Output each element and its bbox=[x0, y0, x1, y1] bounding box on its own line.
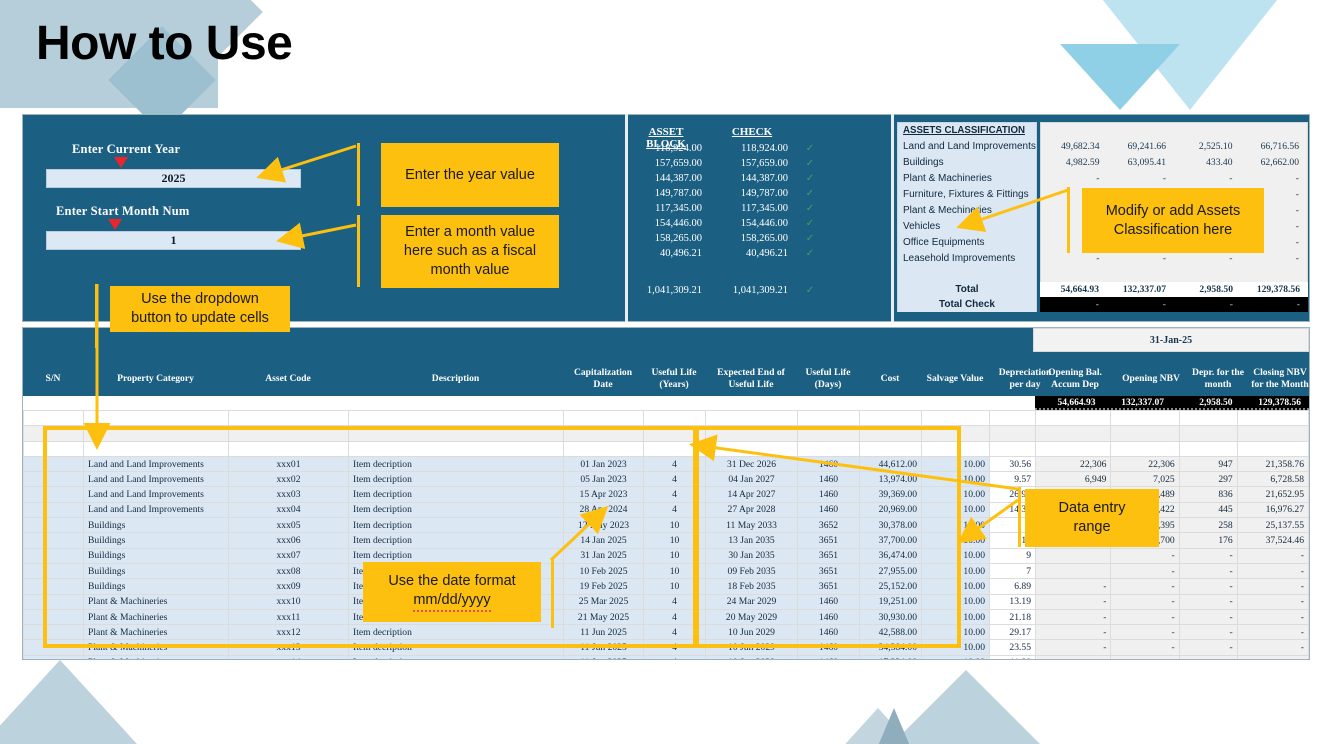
cell-depr-per-day[interactable]: 9.57 bbox=[990, 472, 1036, 487]
cell-description[interactable]: Item decription bbox=[349, 502, 564, 517]
table-row[interactable]: - - - - bbox=[1036, 655, 1309, 660]
cell-asset-code[interactable]: xxx10 bbox=[229, 594, 349, 609]
cell-salvage[interactable]: 10.00 bbox=[922, 518, 990, 533]
cell-cap-date[interactable]: 15 Apr 2023 bbox=[564, 487, 644, 502]
cell-salvage[interactable]: 10.00 bbox=[922, 640, 990, 655]
table-row[interactable] bbox=[1036, 411, 1309, 426]
cell-depr-per-day[interactable]: 21.18 bbox=[990, 609, 1036, 624]
current-year-input[interactable]: 2025 bbox=[46, 169, 301, 188]
cell-sn[interactable] bbox=[24, 625, 84, 640]
col-cost: Cost bbox=[859, 361, 921, 396]
cell-cost[interactable]: 39,369.00 bbox=[860, 487, 922, 502]
table-row[interactable]: Buildings xxx05 Item decription 12 May 2… bbox=[24, 518, 1036, 533]
cell-description[interactable]: Item decription bbox=[349, 487, 564, 502]
cell-description[interactable]: Item decription bbox=[349, 533, 564, 548]
callout-data-entry-range: Data entry range bbox=[1025, 489, 1159, 547]
cell-cap-date[interactable]: 19 Feb 2025 bbox=[564, 579, 644, 594]
cell-salvage[interactable]: 10.00 bbox=[922, 472, 990, 487]
table-row[interactable] bbox=[1036, 426, 1309, 441]
table-row[interactable]: - - - bbox=[1036, 563, 1309, 578]
cell-asset-code[interactable]: xxx06 bbox=[229, 533, 349, 548]
cell-opening-accum-dep[interactable]: - bbox=[1036, 655, 1111, 660]
cell-cap-date[interactable]: 21 May 2025 bbox=[564, 609, 644, 624]
cell-depr-for-month[interactable]: - bbox=[1179, 594, 1237, 609]
cell-opening-accum-dep[interactable]: - bbox=[1036, 625, 1111, 640]
cell-useful-days[interactable]: 3651 bbox=[798, 533, 860, 548]
cell-useful-years[interactable]: 4 bbox=[644, 456, 706, 471]
cell-asset-code[interactable]: xxx07 bbox=[229, 548, 349, 563]
cell-depr-for-month[interactable]: - bbox=[1179, 548, 1237, 563]
cell-cost[interactable]: 30,378.00 bbox=[860, 518, 922, 533]
cell-depr-for-month[interactable]: - bbox=[1179, 579, 1237, 594]
cell-depr-per-day[interactable]: 29.17 bbox=[990, 625, 1036, 640]
cell-category[interactable]: Plant & Machineries bbox=[84, 625, 229, 640]
cell-expected-end[interactable]: 04 Jan 2027 bbox=[706, 472, 798, 487]
cell-expected-end[interactable]: 10 Jun 2029 bbox=[706, 655, 798, 660]
cell-expected-end[interactable]: 18 Feb 2035 bbox=[706, 579, 798, 594]
cell-depr-for-month[interactable]: - bbox=[1179, 640, 1237, 655]
cell-closing-nbv[interactable]: 21,358.76 bbox=[1237, 456, 1308, 471]
cell-closing-nbv[interactable]: - bbox=[1237, 655, 1308, 660]
cell-sn[interactable] bbox=[24, 655, 84, 660]
cell-opening-nbv[interactable]: - bbox=[1111, 563, 1179, 578]
cell-sn[interactable] bbox=[24, 502, 84, 517]
cell-expected-end[interactable]: 20 May 2029 bbox=[706, 609, 798, 624]
callout-enter-month: Enter a month value here such as a fisca… bbox=[381, 215, 559, 288]
cell-salvage[interactable]: 10.00 bbox=[922, 579, 990, 594]
cell-sn[interactable] bbox=[24, 640, 84, 655]
cell-useful-days[interactable]: 1460 bbox=[798, 594, 860, 609]
cell-salvage[interactable]: 10.00 bbox=[922, 548, 990, 563]
table-row[interactable]: 6,949 7,025 297 6,728.58 bbox=[1036, 472, 1309, 487]
cell-category[interactable]: Buildings bbox=[84, 533, 229, 548]
cell-opening-nbv[interactable]: - bbox=[1111, 594, 1179, 609]
cell-expected-end[interactable]: 13 Jan 2035 bbox=[706, 533, 798, 548]
classification-item[interactable]: Leasehold Improvements bbox=[898, 251, 1036, 267]
slide-canvas: How to Use Enter Current Year 2025 Enter… bbox=[0, 0, 1322, 744]
asset-table-left[interactable]: Land and Land Improvements xxx01 Item de… bbox=[23, 410, 1036, 660]
cell-closing-nbv[interactable]: 37,524.46 bbox=[1237, 533, 1308, 548]
table-cell[interactable] bbox=[860, 411, 922, 426]
cell-cost[interactable]: 27,955.00 bbox=[860, 563, 922, 578]
cell-category[interactable]: Plant & Machineries bbox=[84, 609, 229, 624]
cell-opening-accum-dep[interactable] bbox=[1036, 548, 1111, 563]
totals-strip-cell: 2,958.50 bbox=[1172, 396, 1241, 408]
table-cell[interactable] bbox=[1237, 441, 1308, 456]
cell-cost[interactable]: 19,251.00 bbox=[860, 594, 922, 609]
table-cell[interactable] bbox=[1179, 441, 1237, 456]
cell-expected-end[interactable]: 09 Feb 2035 bbox=[706, 563, 798, 578]
table-row[interactable]: Plant & Machineries xxx12 Item decriptio… bbox=[24, 625, 1036, 640]
cell-description[interactable]: Item decription bbox=[349, 472, 564, 487]
classification-item[interactable]: Plant & Machineries bbox=[898, 171, 1036, 187]
cell-useful-days[interactable]: 1460 bbox=[798, 609, 860, 624]
cell-useful-days[interactable]: 1460 bbox=[798, 487, 860, 502]
cell-closing-nbv[interactable]: - bbox=[1237, 625, 1308, 640]
table-cell[interactable] bbox=[644, 426, 706, 441]
table-cell[interactable] bbox=[798, 411, 860, 426]
table-cell[interactable] bbox=[990, 441, 1036, 456]
table-cell[interactable] bbox=[990, 426, 1036, 441]
cell-depr-for-month[interactable]: - bbox=[1179, 655, 1237, 660]
col-closing-nbv: Closing NBV for the Month bbox=[1249, 361, 1310, 396]
cell-category[interactable]: Buildings bbox=[84, 548, 229, 563]
cell-depr-per-day[interactable]: 6.89 bbox=[990, 579, 1036, 594]
cell-useful-days[interactable]: 3651 bbox=[798, 548, 860, 563]
check-mark-icons: ✓✓✓✓✓✓✓✓ bbox=[800, 141, 820, 261]
table-row[interactable]: Plant & Machineries xxx14 Item decriptio… bbox=[24, 655, 1036, 660]
asset-block-values: 118,924.00157,659.00144,387.00149,787.00… bbox=[628, 141, 702, 261]
cell-closing-nbv[interactable]: - bbox=[1237, 548, 1308, 563]
cell-expected-end[interactable]: 31 Dec 2026 bbox=[706, 456, 798, 471]
table-row[interactable]: Land and Land Improvements xxx04 Item de… bbox=[24, 502, 1036, 517]
start-month-input[interactable]: 1 bbox=[46, 231, 301, 250]
cell-closing-nbv[interactable]: - bbox=[1237, 563, 1308, 578]
cell-sn[interactable] bbox=[24, 548, 84, 563]
cell-cap-date[interactable]: 25 Mar 2025 bbox=[564, 594, 644, 609]
cell-sn[interactable] bbox=[24, 594, 84, 609]
table-cell[interactable] bbox=[84, 441, 229, 456]
cell-opening-accum-dep[interactable]: 22,306 bbox=[1036, 456, 1111, 471]
cell-opening-accum-dep[interactable]: - bbox=[1036, 579, 1111, 594]
classification-check-cell: - bbox=[1241, 297, 1308, 312]
table-cell[interactable] bbox=[24, 411, 84, 426]
cell-expected-end[interactable]: 24 Mar 2029 bbox=[706, 594, 798, 609]
cell-asset-code[interactable]: xxx08 bbox=[229, 563, 349, 578]
table-cell[interactable] bbox=[706, 426, 798, 441]
table-cell[interactable] bbox=[229, 426, 349, 441]
cell-asset-code[interactable]: xxx14 bbox=[229, 655, 349, 660]
cell-cost[interactable]: 30,930.00 bbox=[860, 609, 922, 624]
table-cell[interactable] bbox=[922, 411, 990, 426]
cell-expected-end[interactable]: 27 Apr 2028 bbox=[706, 502, 798, 517]
cell-depr-per-day[interactable]: 23.55 bbox=[990, 640, 1036, 655]
table-cell[interactable] bbox=[1179, 411, 1237, 426]
classification-item[interactable]: Buildings bbox=[898, 155, 1036, 171]
decorative-triangle-bottom-left bbox=[0, 660, 170, 744]
cell-useful-years[interactable]: 4 bbox=[644, 609, 706, 624]
table-cell[interactable] bbox=[1036, 411, 1111, 426]
assets-classification-list[interactable]: ASSETS CLASSIFICATIONLand and Land Impro… bbox=[897, 122, 1037, 290]
cell-closing-nbv[interactable]: - bbox=[1237, 609, 1308, 624]
cell-expected-end[interactable]: 30 Jan 2035 bbox=[706, 548, 798, 563]
table-cell[interactable] bbox=[349, 441, 564, 456]
col-expected-end: Expected End of Useful Life bbox=[705, 361, 797, 396]
cell-depr-for-month[interactable]: 445 bbox=[1179, 502, 1237, 517]
table-row[interactable]: Land and Land Improvements xxx01 Item de… bbox=[24, 456, 1036, 471]
table-cell[interactable] bbox=[990, 411, 1036, 426]
cell-useful-days[interactable]: 1460 bbox=[798, 640, 860, 655]
cell-cap-date[interactable]: 31 Jan 2025 bbox=[564, 548, 644, 563]
cell-category[interactable]: Land and Land Improvements bbox=[84, 472, 229, 487]
cell-opening-accum-dep[interactable]: 6,949 bbox=[1036, 472, 1111, 487]
cell-cap-date[interactable]: 11 Jun 2025 bbox=[564, 640, 644, 655]
table-row[interactable]: Land and Land Improvements xxx03 Item de… bbox=[24, 487, 1036, 502]
col-useful-life-years: Useful Life (Years) bbox=[643, 361, 705, 396]
cell-opening-accum-dep[interactable]: - bbox=[1036, 609, 1111, 624]
cell-closing-nbv[interactable]: - bbox=[1237, 579, 1308, 594]
classification-item[interactable]: Plant & Mechineries bbox=[898, 203, 1036, 219]
cell-useful-days[interactable]: 3652 bbox=[798, 518, 860, 533]
cell-depr-per-day[interactable]: 9 bbox=[990, 548, 1036, 563]
cell-opening-nbv[interactable]: - bbox=[1111, 609, 1179, 624]
cell-asset-code[interactable]: xxx04 bbox=[229, 502, 349, 517]
cell-sn[interactable] bbox=[24, 487, 84, 502]
cell-useful-days[interactable]: 1460 bbox=[798, 502, 860, 517]
col-salvage-value: Salvage Value bbox=[921, 361, 989, 396]
cell-depr-for-month[interactable]: 836 bbox=[1179, 487, 1237, 502]
table-cell[interactable] bbox=[706, 441, 798, 456]
classification-cell: 49,682.34 bbox=[1041, 139, 1108, 155]
table-row[interactable]: - - - - bbox=[1036, 594, 1309, 609]
table-cell[interactable] bbox=[860, 426, 922, 441]
cell-sn[interactable] bbox=[24, 563, 84, 578]
cell-salvage[interactable]: 10.00 bbox=[922, 563, 990, 578]
cell-opening-nbv[interactable]: - bbox=[1111, 625, 1179, 640]
table-cell[interactable] bbox=[922, 426, 990, 441]
cell-category[interactable]: Plant & Machineries bbox=[84, 640, 229, 655]
table-cell[interactable] bbox=[1036, 441, 1111, 456]
cell-asset-code[interactable]: xxx05 bbox=[229, 518, 349, 533]
table-cell[interactable] bbox=[860, 441, 922, 456]
cell-description[interactable]: Item decription bbox=[349, 640, 564, 655]
cell-cost[interactable]: 42,588.00 bbox=[860, 625, 922, 640]
table-row[interactable]: - - - bbox=[1036, 548, 1309, 563]
callout-bar-classification bbox=[1067, 187, 1070, 253]
cell-closing-nbv[interactable]: - bbox=[1237, 594, 1308, 609]
cell-opening-nbv[interactable]: 22,306 bbox=[1111, 456, 1179, 471]
cell-salvage[interactable]: 10.00 bbox=[922, 456, 990, 471]
cell-category[interactable]: Land and Land Improvements bbox=[84, 502, 229, 517]
cell-description[interactable]: Item decription bbox=[349, 655, 564, 660]
cell-cap-date[interactable]: 12 May 2023 bbox=[564, 518, 644, 533]
cell-useful-years[interactable]: 10 bbox=[644, 548, 706, 563]
cell-cost[interactable]: 17,234.00 bbox=[860, 655, 922, 660]
asset-block-value: 158,265.00 bbox=[628, 231, 702, 246]
cell-depr-for-month[interactable]: - bbox=[1179, 625, 1237, 640]
table-row[interactable] bbox=[24, 411, 1036, 426]
cell-category[interactable]: Plant & Machineries bbox=[84, 594, 229, 609]
cell-salvage[interactable]: 10.00 bbox=[922, 487, 990, 502]
cell-opening-nbv[interactable]: - bbox=[1111, 655, 1179, 660]
cell-closing-nbv[interactable]: 6,728.58 bbox=[1237, 472, 1308, 487]
cell-category[interactable]: Buildings bbox=[84, 518, 229, 533]
cell-useful-years[interactable]: 4 bbox=[644, 640, 706, 655]
table-cell[interactable] bbox=[1237, 411, 1308, 426]
table-cell[interactable] bbox=[564, 441, 644, 456]
classification-cell: - bbox=[1241, 171, 1308, 187]
cell-closing-nbv[interactable]: - bbox=[1237, 640, 1308, 655]
cell-opening-nbv[interactable]: 7,025 bbox=[1111, 472, 1179, 487]
cell-useful-years[interactable]: 10 bbox=[644, 579, 706, 594]
cell-useful-days[interactable]: 3651 bbox=[798, 579, 860, 594]
table-row[interactable] bbox=[1036, 441, 1309, 456]
cell-sn[interactable] bbox=[24, 472, 84, 487]
table-row[interactable]: - - - - bbox=[1036, 609, 1309, 624]
cell-useful-years[interactable]: 4 bbox=[644, 472, 706, 487]
cell-depr-for-month[interactable]: 297 bbox=[1179, 472, 1237, 487]
cell-cap-date[interactable]: 11 Jun 2025 bbox=[564, 655, 644, 660]
cell-cost[interactable]: 20,969.00 bbox=[860, 502, 922, 517]
cell-cap-date[interactable]: 10 Feb 2025 bbox=[564, 563, 644, 578]
cell-depr-for-month[interactable]: - bbox=[1179, 609, 1237, 624]
table-cell[interactable] bbox=[1111, 441, 1179, 456]
cell-category[interactable]: Land and Land Improvements bbox=[84, 487, 229, 502]
table-cell[interactable] bbox=[349, 426, 564, 441]
table-cell[interactable] bbox=[349, 411, 564, 426]
cell-category[interactable]: Land and Land Improvements bbox=[84, 456, 229, 471]
cell-salvage[interactable]: 10.00 bbox=[922, 533, 990, 548]
cell-closing-nbv[interactable]: 21,652.95 bbox=[1237, 487, 1308, 502]
cell-depr-per-day[interactable]: 7 bbox=[990, 563, 1036, 578]
cell-cap-date[interactable]: 14 Jan 2025 bbox=[564, 533, 644, 548]
cell-sn[interactable] bbox=[24, 518, 84, 533]
table-cell[interactable] bbox=[564, 411, 644, 426]
table-cell[interactable] bbox=[24, 441, 84, 456]
cell-depr-per-day[interactable]: 30.56 bbox=[990, 456, 1036, 471]
table-cell[interactable] bbox=[229, 411, 349, 426]
classification-total-check-label: Total Check bbox=[897, 297, 1037, 312]
table-row[interactable]: Land and Land Improvements xxx02 Item de… bbox=[24, 472, 1036, 487]
cell-useful-years[interactable]: 10 bbox=[644, 518, 706, 533]
callout-dateformat-line2: mm/dd/yyyy bbox=[413, 591, 490, 612]
table-cell[interactable] bbox=[922, 441, 990, 456]
cell-asset-code[interactable]: xxx01 bbox=[229, 456, 349, 471]
cell-expected-end[interactable]: 11 May 2033 bbox=[706, 518, 798, 533]
cell-salvage[interactable]: 10.00 bbox=[922, 502, 990, 517]
cell-cap-date[interactable]: 05 Jan 2023 bbox=[564, 472, 644, 487]
cell-cap-date[interactable]: 11 Jun 2025 bbox=[564, 625, 644, 640]
table-cell[interactable] bbox=[84, 426, 229, 441]
cell-closing-nbv[interactable]: 25,137.55 bbox=[1237, 518, 1308, 533]
cell-useful-days[interactable]: 3651 bbox=[798, 563, 860, 578]
table-row[interactable]: 22,306 22,306 947 21,358.76 bbox=[1036, 456, 1309, 471]
classification-item[interactable]: Land and Land Improvements bbox=[898, 139, 1036, 155]
cell-closing-nbv[interactable]: 16,976.27 bbox=[1237, 502, 1308, 517]
cell-asset-code[interactable]: xxx03 bbox=[229, 487, 349, 502]
cell-cap-date[interactable]: 01 Jan 2023 bbox=[564, 456, 644, 471]
cell-useful-years[interactable]: 4 bbox=[644, 655, 706, 660]
table-row[interactable] bbox=[24, 441, 1036, 456]
cell-asset-code[interactable]: xxx13 bbox=[229, 640, 349, 655]
table-cell[interactable] bbox=[84, 411, 229, 426]
cell-depr-per-day[interactable]: 13.19 bbox=[990, 594, 1036, 609]
table-cell[interactable] bbox=[1111, 426, 1179, 441]
check-value: 118,924.00 bbox=[714, 141, 788, 156]
callout-dropdown-line2: button to update cells bbox=[131, 309, 269, 328]
table-cell[interactable] bbox=[644, 441, 706, 456]
cell-expected-end[interactable]: 14 Apr 2027 bbox=[706, 487, 798, 502]
cell-description[interactable]: Item decription bbox=[349, 456, 564, 471]
cell-asset-code[interactable]: xxx02 bbox=[229, 472, 349, 487]
classification-item[interactable]: Office Equipments bbox=[898, 235, 1036, 251]
cell-sn[interactable] bbox=[24, 533, 84, 548]
cell-salvage[interactable]: 10.00 bbox=[922, 625, 990, 640]
cell-expected-end[interactable]: 10 Jun 2029 bbox=[706, 625, 798, 640]
cell-cost[interactable]: 37,700.00 bbox=[860, 533, 922, 548]
table-cell[interactable] bbox=[798, 441, 860, 456]
cell-useful-years[interactable]: 4 bbox=[644, 502, 706, 517]
table-cell[interactable] bbox=[1179, 426, 1237, 441]
cell-salvage[interactable]: 10.00 bbox=[922, 609, 990, 624]
cell-opening-nbv[interactable]: - bbox=[1111, 548, 1179, 563]
cell-expected-end[interactable]: 10 Jun 2029 bbox=[706, 640, 798, 655]
cell-cost[interactable]: 44,612.00 bbox=[860, 456, 922, 471]
cell-useful-days[interactable]: 1460 bbox=[798, 655, 860, 660]
page-title: How to Use bbox=[36, 16, 292, 71]
table-cell[interactable] bbox=[1111, 411, 1179, 426]
table-row[interactable]: - - - - bbox=[1036, 625, 1309, 640]
cell-sn[interactable] bbox=[24, 456, 84, 471]
cell-description[interactable]: Item decription bbox=[349, 518, 564, 533]
table-cell[interactable] bbox=[564, 426, 644, 441]
cell-depr-per-day[interactable]: 11.80 bbox=[990, 655, 1036, 660]
cell-description[interactable]: Item decription bbox=[349, 625, 564, 640]
cell-useful-days[interactable]: 1460 bbox=[798, 625, 860, 640]
cell-depr-for-month[interactable]: 258 bbox=[1179, 518, 1237, 533]
cell-asset-code[interactable]: xxx09 bbox=[229, 579, 349, 594]
table-cell[interactable] bbox=[798, 426, 860, 441]
cell-category[interactable]: Plant & Machineries bbox=[84, 655, 229, 660]
table-row[interactable]: Buildings xxx06 Item decription 14 Jan 2… bbox=[24, 533, 1036, 548]
cell-asset-code[interactable]: xxx12 bbox=[229, 625, 349, 640]
cell-cost[interactable]: 25,152.00 bbox=[860, 579, 922, 594]
table-cell[interactable] bbox=[229, 441, 349, 456]
cell-useful-days[interactable]: 1460 bbox=[798, 456, 860, 471]
cell-useful-years[interactable]: 10 bbox=[644, 563, 706, 578]
col-capitalization-date: Capitalization Date bbox=[563, 361, 643, 396]
cell-useful-years[interactable]: 10 bbox=[644, 533, 706, 548]
cell-cost[interactable]: 13,974.00 bbox=[860, 472, 922, 487]
cell-opening-nbv[interactable]: - bbox=[1111, 640, 1179, 655]
check-value: 158,265.00 bbox=[714, 231, 788, 246]
classification-cell: - bbox=[1041, 251, 1108, 267]
cell-opening-accum-dep[interactable]: - bbox=[1036, 594, 1111, 609]
cell-depr-for-month[interactable]: - bbox=[1179, 563, 1237, 578]
cell-asset-code[interactable]: xxx11 bbox=[229, 609, 349, 624]
cell-cost[interactable]: 36,474.00 bbox=[860, 548, 922, 563]
classification-item[interactable]: Furniture, Fixtures & Fittings bbox=[898, 187, 1036, 203]
classification-item[interactable]: Vehicles bbox=[898, 219, 1036, 235]
table-row[interactable]: - - - - bbox=[1036, 640, 1309, 655]
table-row[interactable] bbox=[24, 426, 1036, 441]
cell-cost[interactable]: 34,384.00 bbox=[860, 640, 922, 655]
cell-salvage[interactable]: 10.00 bbox=[922, 655, 990, 660]
cell-opening-accum-dep[interactable]: - bbox=[1036, 640, 1111, 655]
cell-useful-days[interactable]: 1460 bbox=[798, 472, 860, 487]
table-cell[interactable] bbox=[706, 411, 798, 426]
cell-opening-accum-dep[interactable] bbox=[1036, 563, 1111, 578]
cell-sn[interactable] bbox=[24, 579, 84, 594]
cell-cap-date[interactable]: 28 Apr 2024 bbox=[564, 502, 644, 517]
table-cell[interactable] bbox=[24, 426, 84, 441]
cell-opening-nbv[interactable]: - bbox=[1111, 579, 1179, 594]
cell-depr-for-month[interactable]: 176 bbox=[1179, 533, 1237, 548]
cell-useful-years[interactable]: 4 bbox=[644, 594, 706, 609]
cell-useful-years[interactable]: 4 bbox=[644, 487, 706, 502]
table-cell[interactable] bbox=[1036, 426, 1111, 441]
cell-sn[interactable] bbox=[24, 609, 84, 624]
cell-category[interactable]: Buildings bbox=[84, 563, 229, 578]
cell-useful-years[interactable]: 4 bbox=[644, 625, 706, 640]
table-cell[interactable] bbox=[1237, 426, 1308, 441]
table-cell[interactable] bbox=[644, 411, 706, 426]
cell-category[interactable]: Buildings bbox=[84, 579, 229, 594]
table-row[interactable]: Plant & Machineries xxx13 Item decriptio… bbox=[24, 640, 1036, 655]
table-row[interactable]: - - - - bbox=[1036, 579, 1309, 594]
cell-salvage[interactable]: 10.00 bbox=[922, 594, 990, 609]
cell-depr-for-month[interactable]: 947 bbox=[1179, 456, 1237, 471]
